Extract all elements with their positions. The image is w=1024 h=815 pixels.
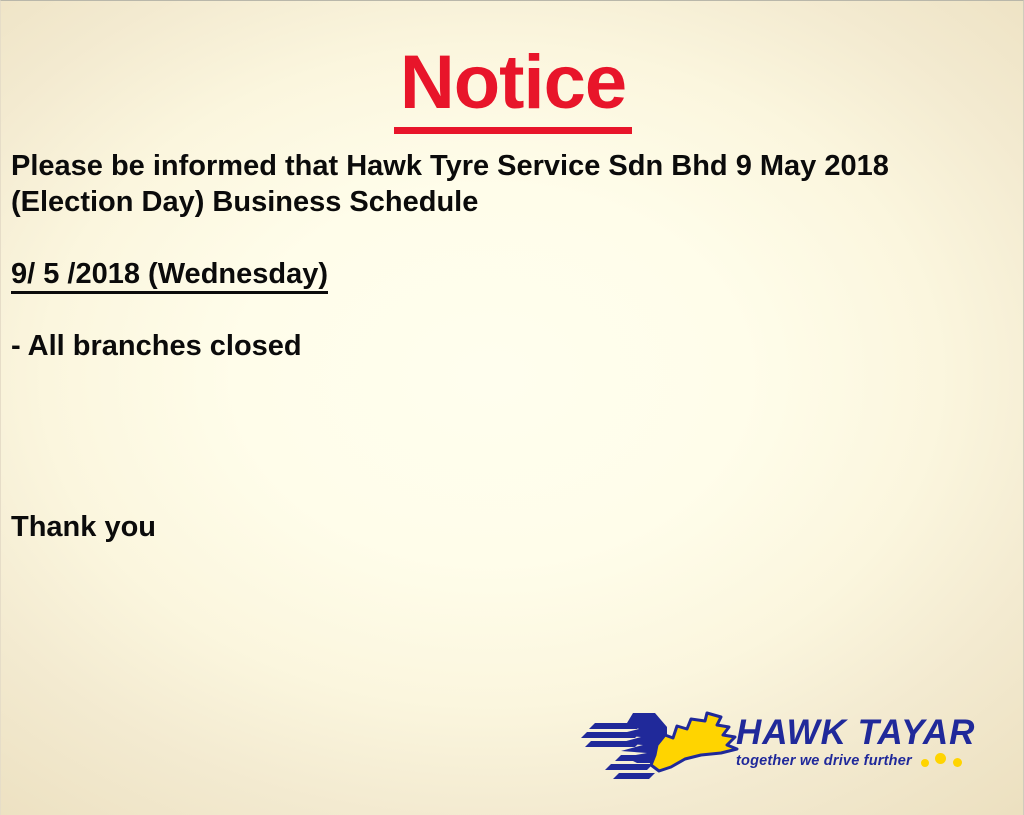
page-title: Notice: [394, 41, 632, 134]
dot-1: [921, 759, 929, 767]
notice-slide: Notice Please be informed that Hawk Tyre…: [0, 0, 1024, 815]
closure-item: - All branches closed: [11, 328, 1013, 364]
notice-body: Please be informed that Hawk Tyre Servic…: [11, 148, 1013, 545]
date-heading-text: 9/ 5 /2018 (Wednesday): [11, 258, 328, 294]
spacer: [11, 364, 1013, 509]
spacer: [11, 292, 1013, 328]
logo-tagline-row: together we drive further: [736, 752, 961, 770]
logo-tagline: together we drive further: [736, 752, 912, 770]
three-dots-icon: [921, 752, 961, 770]
closing-text: Thank you: [11, 509, 1013, 545]
logo-wordmark-area: HAWK TAYAR together we drive further: [736, 715, 961, 777]
dot-3: [953, 758, 962, 767]
date-heading: 9/ 5 /2018 (Wednesday): [11, 256, 1013, 292]
hawk-tayar-logo: HAWK TAYAR together we drive further: [581, 703, 961, 785]
spacer: [11, 220, 1013, 256]
intro-line-1: Please be informed that Hawk Tyre Servic…: [11, 150, 889, 182]
intro-line-2: (Election Day) Business Schedule: [11, 184, 1011, 220]
title-area: Notice: [1, 41, 1024, 134]
intro-paragraph: Please be informed that Hawk Tyre Servic…: [11, 148, 1011, 220]
hawk-bird-icon: [581, 705, 741, 783]
logo-wordmark: HAWK TAYAR: [736, 715, 961, 751]
dot-2: [935, 753, 946, 764]
